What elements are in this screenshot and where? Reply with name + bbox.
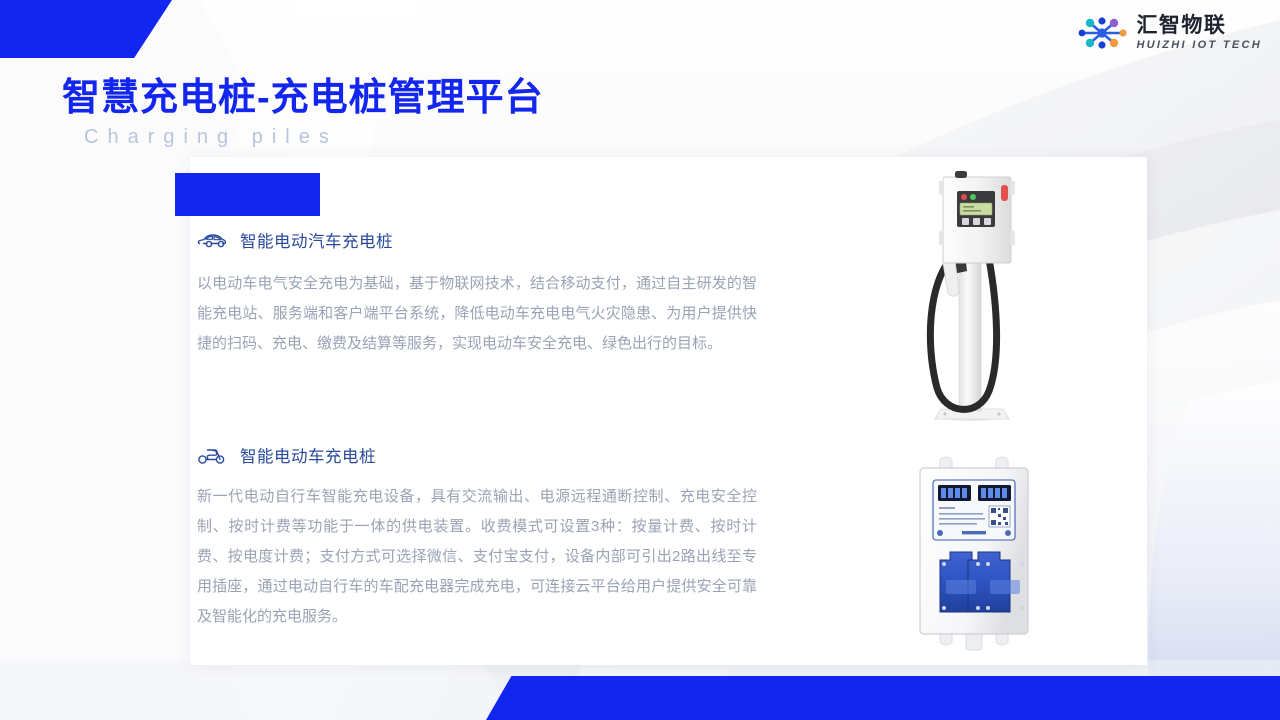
logo-text-en: HUIZHI IOT TECH xyxy=(1136,40,1262,51)
page-subtitle: Charging piles xyxy=(84,126,338,149)
bottom-right-accent-shape xyxy=(486,676,1280,720)
section-heading: 智能电动汽车充电桩 xyxy=(197,228,757,252)
section-body-text: 新一代电动自行车智能充电设备，具有交流输出、电源远程通断控制、充电安全控制、按时… xyxy=(197,482,757,632)
brand-logo: 汇智物联 HUIZHI IOT TECH xyxy=(1076,14,1262,52)
car-icon xyxy=(197,229,227,251)
section-ev-charging-pile: 智能电动汽车充电桩 以电动车电气安全充电为基础，基于物联网技术，结合移动支付，通… xyxy=(197,228,757,359)
blue-tab-accent xyxy=(175,173,320,216)
section-heading: 智能电动车充电桩 xyxy=(197,443,757,467)
page-title: 智慧充电桩-充电桩管理平台 xyxy=(62,66,544,121)
section-title: 智能电动汽车充电桩 xyxy=(240,228,393,252)
section-body-text: 以电动车电气安全充电为基础，基于物联网技术，结合移动支付，通过自主研发的智能充电… xyxy=(197,269,757,359)
product-image-ev-charging-pile xyxy=(893,163,1073,426)
section-ebike-charging-pile: 智能电动车充电桩 新一代电动自行车智能充电设备，具有交流输出、电源远程通断控制、… xyxy=(197,443,757,632)
scooter-icon xyxy=(197,444,227,466)
molecule-network-icon xyxy=(1076,14,1128,52)
section-title: 智能电动车充电桩 xyxy=(240,443,376,467)
logo-text-cn: 汇智物联 xyxy=(1136,15,1262,36)
product-image-ebike-charging-station xyxy=(890,452,1076,657)
